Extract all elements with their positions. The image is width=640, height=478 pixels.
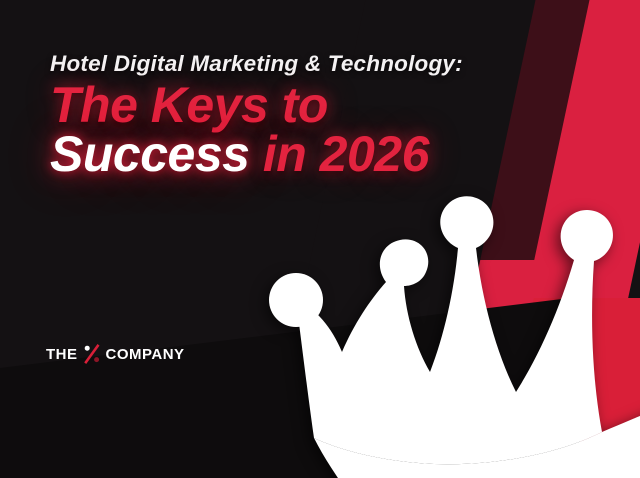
- headline-group: Hotel Digital Marketing & Technology: Th…: [50, 52, 463, 180]
- headline-line-2: Success in 2026: [50, 130, 463, 180]
- promo-poster: Hotel Digital Marketing & Technology: Th…: [0, 0, 640, 478]
- logo-suffix-text: COMPANY: [106, 347, 185, 362]
- headline-year-phrase: in 2026: [249, 126, 428, 182]
- headline-success-word: Success: [50, 126, 249, 182]
- poster-subtitle: Hotel Digital Marketing & Technology:: [50, 52, 463, 77]
- page-title: The Keys to Success in 2026: [50, 81, 463, 180]
- company-logo: THE COMPANY: [46, 341, 185, 367]
- percent-mark-icon: [79, 341, 105, 367]
- logo-prefix-text: THE: [46, 347, 78, 362]
- headline-line-1: The Keys to: [50, 81, 463, 131]
- crown-icon: [258, 196, 640, 478]
